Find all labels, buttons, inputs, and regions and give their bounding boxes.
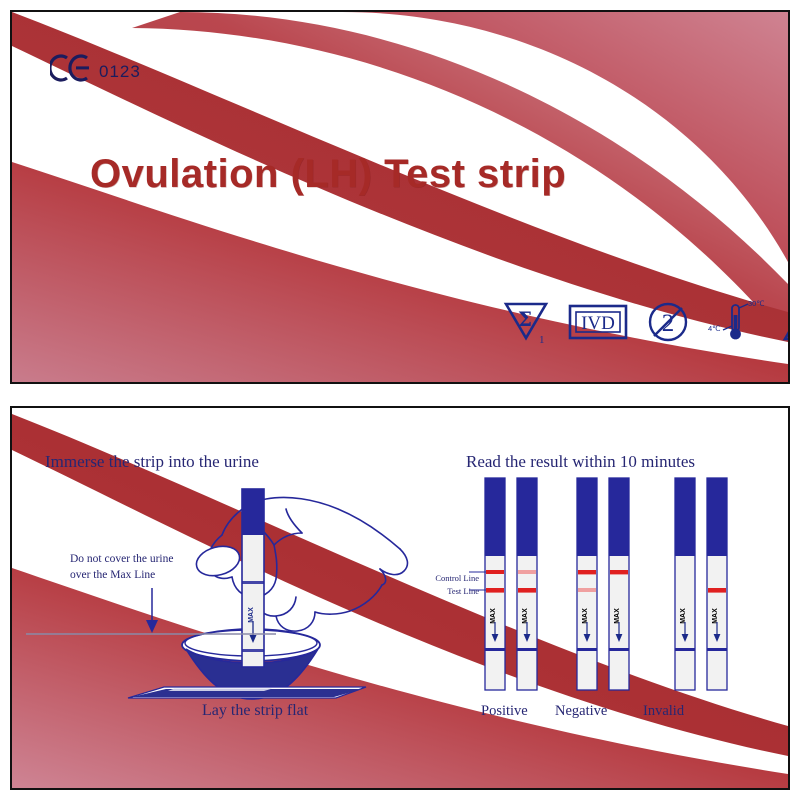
svg-text:Σ: Σ bbox=[518, 307, 532, 331]
ivd-box-icon: IVD bbox=[568, 302, 628, 347]
result-strip-positive-1: MAX bbox=[485, 478, 505, 690]
svg-text:MAX: MAX bbox=[614, 608, 621, 624]
ce-mark-block: 0123 bbox=[50, 54, 141, 82]
svg-text:1: 1 bbox=[539, 334, 545, 346]
control-line-label: Control Line bbox=[417, 572, 479, 585]
left-section-heading: Immerse the strip into the urine bbox=[45, 452, 259, 472]
header-panel: 0123 Ovulation (LH) Test strip Σ 1 bbox=[10, 10, 790, 384]
result-strip-invalid-1: MAX bbox=[675, 478, 695, 690]
ce-logo-icon bbox=[50, 54, 92, 82]
svg-text:30℃: 30℃ bbox=[748, 299, 764, 308]
result-label-row: Positive Negative Invalid bbox=[0, 703, 800, 723]
symbol-row: Σ 1 IVD 2 bbox=[502, 298, 790, 351]
page-title: Ovulation (LH) Test strip bbox=[90, 152, 566, 197]
result-strip-negative-1: MAX bbox=[577, 478, 597, 690]
do-not-reuse-icon: 2 bbox=[646, 300, 690, 349]
right-section-heading: Read the result within 10 minutes bbox=[466, 452, 695, 472]
svg-text:4℃: 4℃ bbox=[708, 324, 721, 333]
result-label-positive: Positive bbox=[481, 703, 528, 720]
svg-text:MAX: MAX bbox=[582, 608, 589, 624]
svg-text:MAX: MAX bbox=[680, 608, 687, 624]
result-label-invalid: Invalid bbox=[643, 703, 684, 720]
max-line-indicator bbox=[26, 588, 276, 648]
result-strip-negative-2: MAX bbox=[609, 478, 629, 690]
svg-text:MAX: MAX bbox=[712, 608, 719, 624]
svg-text:IVD: IVD bbox=[581, 313, 615, 334]
result-label-negative: Negative bbox=[555, 703, 607, 720]
max-line-note-line2: over the Max Line bbox=[70, 568, 230, 584]
result-strip-positive-2: MAX bbox=[517, 478, 537, 690]
result-strips-illustration: MAX MAX MAX bbox=[467, 472, 767, 702]
max-line-note-line1: Do not cover the urine bbox=[70, 552, 230, 568]
max-line-note: Do not cover the urine over the Max Line bbox=[70, 552, 230, 583]
result-strip-invalid-2: MAX bbox=[707, 478, 727, 690]
line-label-group: Control Line Test Line bbox=[417, 572, 479, 598]
strip-lying-flat-illustration bbox=[122, 680, 372, 704]
svg-text:MAX: MAX bbox=[490, 608, 497, 624]
svg-text:MAX: MAX bbox=[522, 608, 529, 624]
ce-notified-body-number: 0123 bbox=[99, 63, 141, 82]
caution-triangle-icon: ! bbox=[782, 300, 790, 349]
temperature-limit-icon: 30℃ 4℃ bbox=[708, 298, 764, 351]
package-insert-page: 0123 Ovulation (LH) Test strip Σ 1 bbox=[0, 0, 800, 800]
test-line-label: Test Line bbox=[417, 585, 479, 598]
sigma-1-triangle-icon: Σ 1 bbox=[502, 298, 550, 351]
